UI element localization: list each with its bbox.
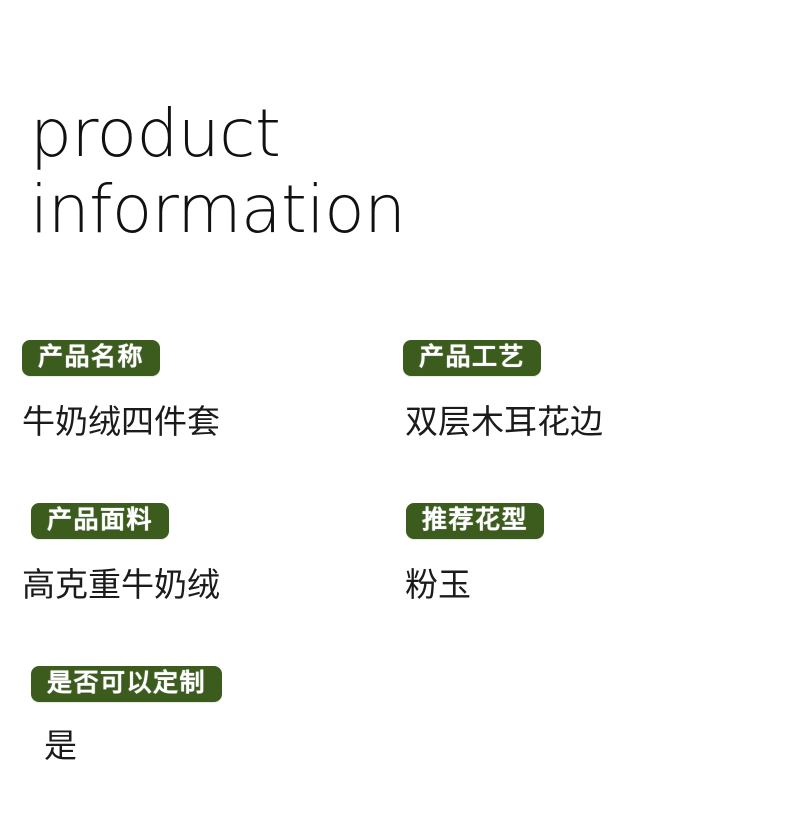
- spec-item-recommended-pattern: 推荐花型 粉玉: [406, 503, 544, 605]
- spec-value: 牛奶绒四件套: [22, 402, 220, 442]
- spec-label-badge: 产品名称: [22, 340, 160, 376]
- spec-label-badge: 产品工艺: [403, 340, 541, 376]
- page-title-line-2: information: [30, 172, 750, 248]
- spec-value: 粉玉: [405, 565, 544, 605]
- spec-item-product-fabric: 产品面料 高克重牛奶绒: [31, 503, 220, 605]
- spec-label-badge: 推荐花型: [406, 503, 544, 539]
- spec-item-customizable: 是否可以定制 是: [31, 666, 222, 766]
- spec-row: 产品名称 牛奶绒四件套 产品工艺 双层木耳花边: [0, 340, 790, 503]
- spec-value: 高克重牛奶绒: [22, 565, 220, 605]
- spec-label-badge: 是否可以定制: [31, 666, 222, 702]
- spec-list: 产品名称 牛奶绒四件套 产品工艺 双层木耳花边 产品面料 高克重牛奶绒 推荐花型…: [0, 340, 790, 806]
- product-information-page: product information 产品名称 牛奶绒四件套 产品工艺 双层木…: [0, 0, 790, 828]
- page-title-line-1: product: [30, 96, 750, 172]
- spec-row: 是否可以定制 是: [0, 666, 790, 806]
- spec-value: 双层木耳花边: [405, 402, 603, 442]
- page-title: product information: [30, 96, 750, 248]
- spec-item-product-name: 产品名称 牛奶绒四件套: [22, 340, 220, 442]
- spec-value: 是: [44, 726, 222, 766]
- spec-item-product-craft: 产品工艺 双层木耳花边: [403, 340, 603, 442]
- spec-row: 产品面料 高克重牛奶绒 推荐花型 粉玉: [0, 503, 790, 666]
- spec-label-badge: 产品面料: [31, 503, 169, 539]
